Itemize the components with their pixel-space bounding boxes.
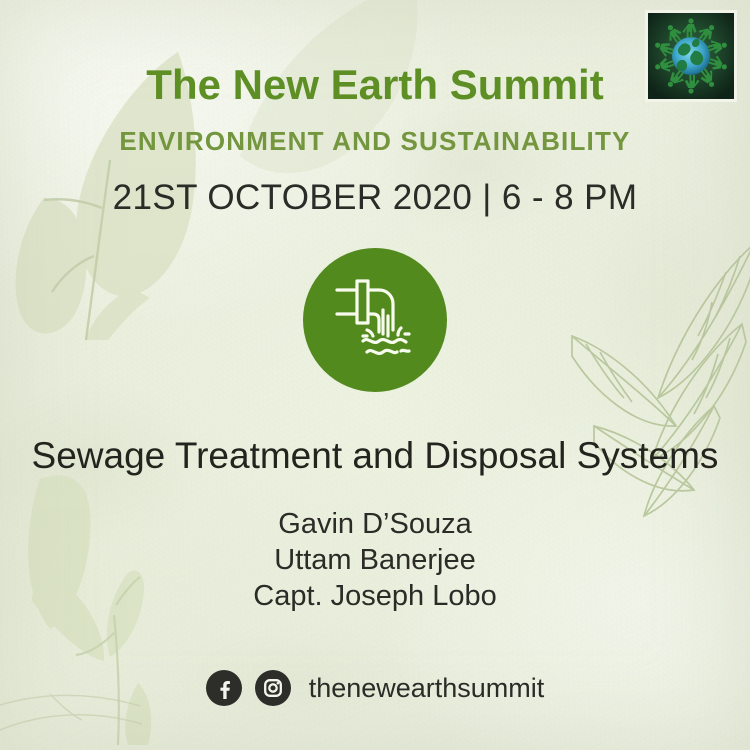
speaker-name: Uttam Banerjee bbox=[0, 542, 750, 578]
social-footer: thenewearthsummit bbox=[0, 670, 750, 706]
instagram-icon[interactable] bbox=[255, 670, 291, 706]
speaker-name: Gavin D’Souza bbox=[0, 506, 750, 542]
page-title: The New Earth Summit bbox=[0, 64, 750, 106]
facebook-icon[interactable] bbox=[206, 670, 242, 706]
event-poster: The New Earth Summit ENVIRONMENT AND SUS… bbox=[0, 0, 750, 750]
social-handle[interactable]: thenewearthsummit bbox=[309, 673, 545, 704]
sewage-outfall-pipe-icon bbox=[323, 268, 427, 372]
speaker-list: Gavin D’Souza Uttam Banerjee Capt. Josep… bbox=[0, 506, 750, 614]
event-datetime: 21ST OCTOBER 2020 | 6 - 8 PM bbox=[0, 180, 750, 215]
feature-icon-circle bbox=[303, 248, 447, 392]
session-topic: Sewage Treatment and Disposal Systems bbox=[0, 437, 750, 474]
page-subtitle: ENVIRONMENT AND SUSTAINABILITY bbox=[0, 128, 750, 154]
speaker-name: Capt. Joseph Lobo bbox=[0, 578, 750, 614]
